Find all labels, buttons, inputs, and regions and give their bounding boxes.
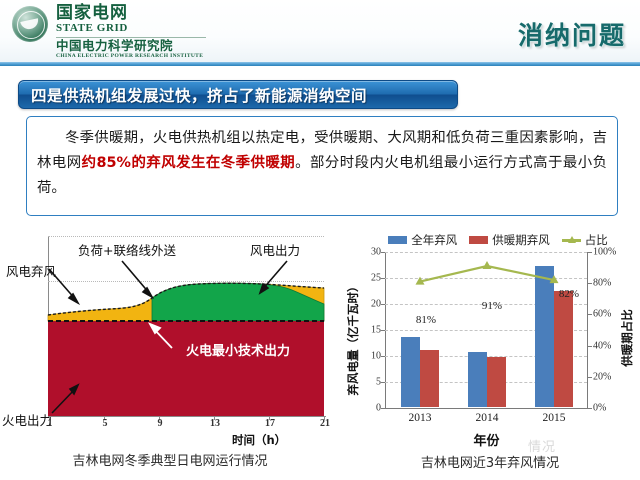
right-chart-y2tick: 0% xyxy=(593,403,606,414)
watermark-text: 情况 xyxy=(528,436,556,455)
right-chart-tickmark xyxy=(381,408,385,409)
left-chart-xtick: 21 xyxy=(320,418,330,429)
right-chart-tickmark xyxy=(588,283,592,284)
left-chart-label-thermal-output: 火电出力 xyxy=(2,410,52,429)
left-chart-xtick: 5 xyxy=(103,418,108,429)
body-text-highlight: 约85%的弃风发生在冬季供暖期 xyxy=(82,155,295,171)
right-chart-y2tick: 80% xyxy=(593,278,611,289)
left-chart-xtick: 9 xyxy=(158,418,163,429)
page-title: 消纳问题 xyxy=(518,16,626,52)
curtailment-bar-chart: 全年弃风 供暖期弃风 占比 0 5 10 15 20 25 30 xyxy=(340,228,640,480)
brand-text-block: 国家电网 STATE GRID 中国电力科学研究院 CHINA ELECTRIC… xyxy=(56,4,206,59)
right-chart-y2tick: 20% xyxy=(593,371,611,382)
legend-swatch-heating-icon xyxy=(469,236,488,244)
right-chart-x-axis-title: 年份 xyxy=(385,430,588,449)
left-chart-label-load-tieline: 负荷+联络线外送 xyxy=(78,240,176,259)
right-chart-caption: 吉林电网近3年弃风情况 xyxy=(360,452,620,471)
right-chart-y2tick: 40% xyxy=(593,340,611,351)
left-chart-xtick: 17 xyxy=(265,418,275,429)
left-chart-x-axis-title: 时间（h） xyxy=(232,432,286,448)
brand-name-en: STATE GRID xyxy=(56,23,206,34)
legend-label-heating: 供暖期弃风 xyxy=(492,232,550,248)
slide-root: 国家电网 STATE GRID 中国电力科学研究院 CHINA ELECTRIC… xyxy=(0,0,640,480)
right-chart-right-axis xyxy=(587,252,588,408)
slide-header: 国家电网 STATE GRID 中国电力科学研究院 CHINA ELECTRIC… xyxy=(0,0,640,62)
right-chart-tickmark xyxy=(588,314,592,315)
section-heading-bar: 四是供热机组发展过快，挤占了新能源消纳空间 xyxy=(18,80,458,109)
right-chart-y2tick: 100% xyxy=(593,247,616,258)
right-chart-tickmark xyxy=(588,346,592,347)
right-chart-bottom-axis xyxy=(385,408,588,409)
left-chart-xtick: 1 xyxy=(48,418,53,429)
right-chart-y2tick: 60% xyxy=(593,309,611,320)
institute-name-cn: 中国电力科学研究院 xyxy=(56,40,206,53)
x-category-2013: 2013 xyxy=(409,412,432,424)
brand-logo-block: 国家电网 STATE GRID 中国电力科学研究院 CHINA ELECTRIC… xyxy=(12,4,206,59)
section-heading-label: 四是供热机组发展过快，挤占了新能源消纳空间 xyxy=(19,84,367,106)
right-chart-tickmark xyxy=(588,377,592,378)
ratio-label-2014: 91% xyxy=(482,300,502,312)
ratio-label-2015: 82% xyxy=(559,288,579,300)
chart-legend: 全年弃风 供暖期弃风 占比 xyxy=(378,232,618,248)
left-chart-label-curtailment: 风电弃风 xyxy=(6,261,56,280)
brand-name-cn: 国家电网 xyxy=(56,5,206,22)
left-chart-caption: 吉林电网冬季典型日电网运行情况 xyxy=(0,450,340,469)
right-chart-y2-axis-title: 供暖期占比 xyxy=(619,263,635,413)
body-textbox: 冬季供暖期，火电供热机组以热定电，受供暖期、大风期和低负荷三重因素影响，吉林电网… xyxy=(26,116,618,216)
body-paragraph: 冬季供暖期，火电供热机组以热定电，受供暖期、大风期和低负荷三重因素影响，吉林电网… xyxy=(37,126,607,201)
left-chart-label-wind-output: 风电出力 xyxy=(250,240,300,259)
x-category-2014: 2014 xyxy=(476,412,499,424)
right-chart-tickmark xyxy=(588,408,592,409)
header-divider xyxy=(0,62,640,66)
ratio-line-series xyxy=(385,252,587,408)
right-chart-ytick: 30 xyxy=(343,247,381,258)
legend-item-annual: 全年弃风 xyxy=(388,232,457,248)
legend-item-heating: 供暖期弃风 xyxy=(469,232,550,248)
daily-operation-chart: 风电弃风 负荷+联络线外送 风电出力 火电最小技术出力 火电出力 1 5 9 1… xyxy=(0,228,340,480)
left-chart-xtick: 13 xyxy=(210,418,220,429)
right-chart-y-axis-title: 弃风电量（亿千瓦时） xyxy=(345,263,361,413)
right-chart-tickmark xyxy=(588,252,592,253)
legend-marker-ratio-icon xyxy=(562,239,581,242)
institute-name-en: CHINA ELECTRIC POWER RESEARCH INSTITUTE xyxy=(56,54,206,60)
left-chart-label-thermal-min-output: 火电最小技术出力 xyxy=(186,340,290,359)
x-category-2015: 2015 xyxy=(543,412,566,424)
right-chart-plot-area xyxy=(385,252,587,407)
state-grid-emblem-icon xyxy=(12,6,48,42)
ratio-label-2013: 81% xyxy=(416,314,436,326)
legend-swatch-annual-icon xyxy=(388,236,407,244)
legend-label-annual: 全年弃风 xyxy=(411,232,457,248)
